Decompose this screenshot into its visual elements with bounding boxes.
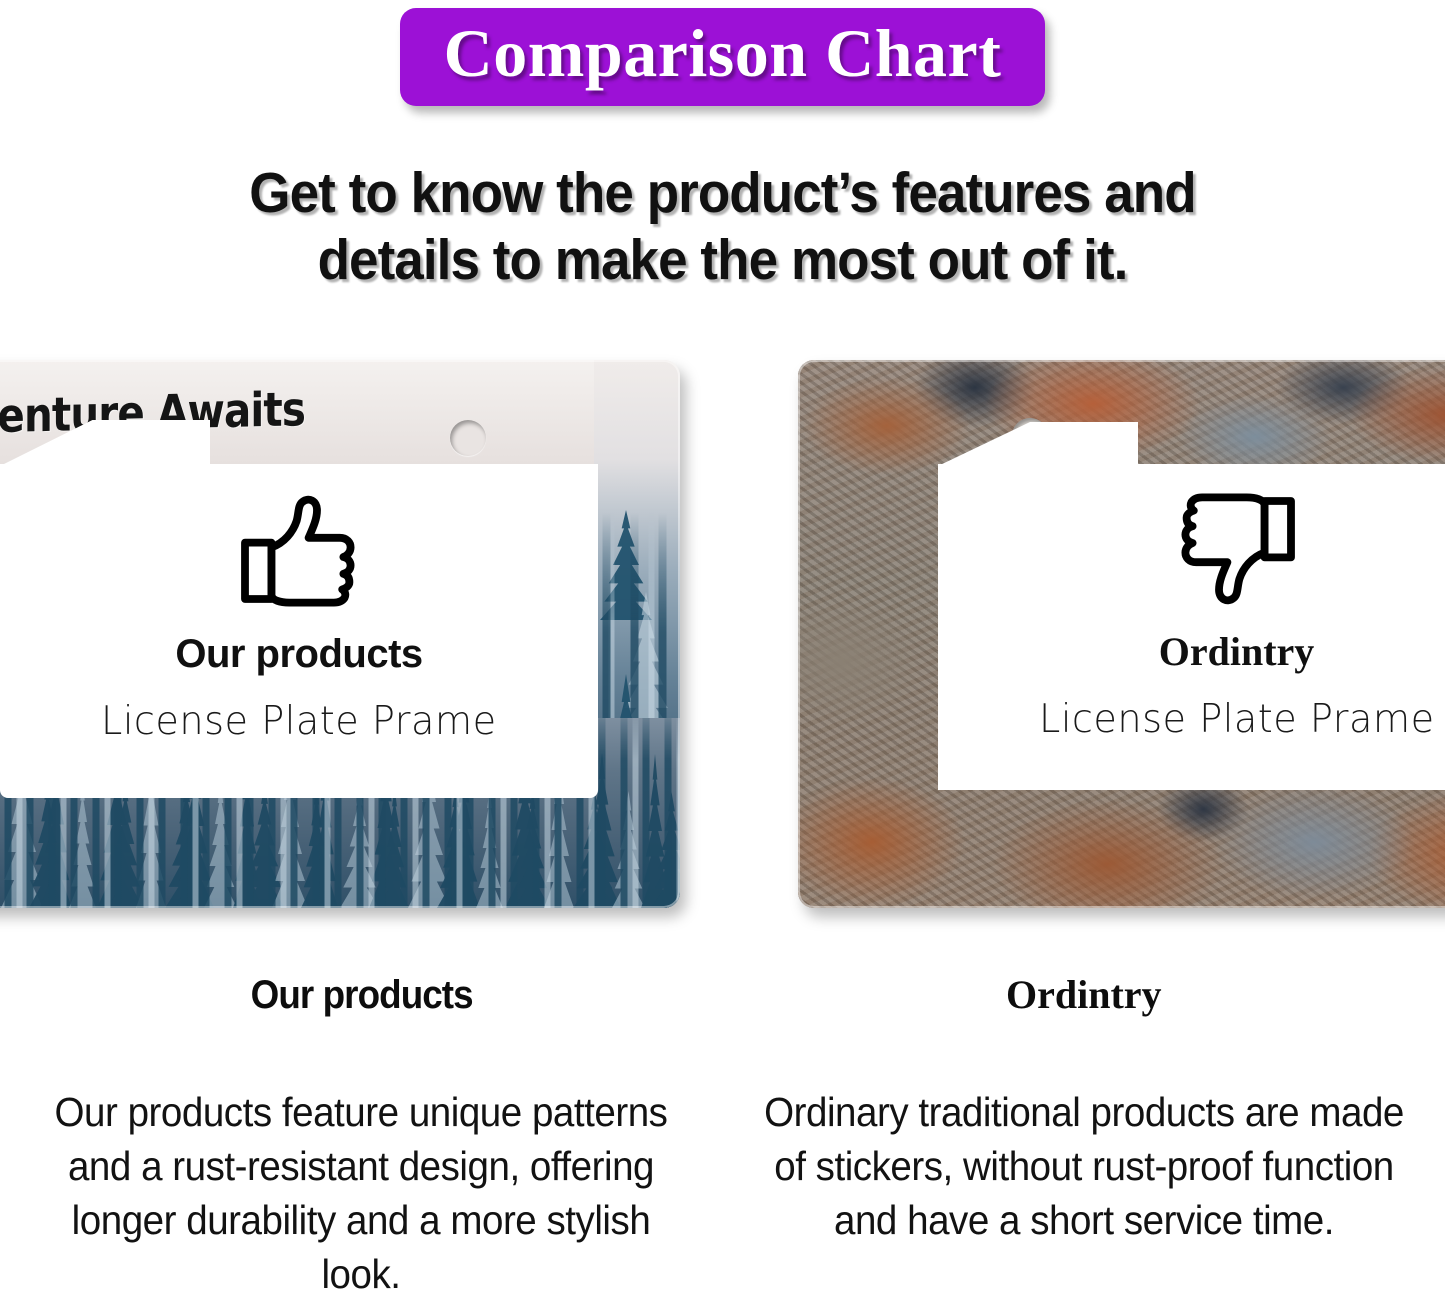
left-description-column: Our products Our products feature unique…	[0, 975, 723, 1315]
plate-window: Our products License Plate Prame	[0, 464, 598, 798]
right-product-label: License Plate Prame	[1039, 700, 1435, 739]
subtitle-line-1: Get to know the product’s features and	[51, 160, 1395, 227]
right-column-title: Ordintry	[1006, 975, 1162, 1015]
right-description-column: Ordintry Ordinary traditional products a…	[723, 975, 1445, 1315]
thumbs-up-icon	[239, 492, 359, 610]
subtitle-line-2: details to make the most out of it.	[51, 227, 1395, 294]
thumbs-down-icon	[1177, 490, 1297, 608]
left-column-description: Our products feature unique patterns and…	[37, 1085, 686, 1301]
left-brand-label: Our products	[175, 634, 422, 674]
plate-window: Ordintry License Plate Prame	[938, 464, 1445, 790]
title-banner: Comparison Chart	[400, 8, 1046, 106]
right-product-frame: Ordintry License Plate Prame	[798, 360, 1445, 908]
subtitle: Get to know the product’s features and d…	[51, 160, 1395, 295]
left-column-title: Our products	[250, 975, 472, 1015]
right-brand-label: Ordintry	[1159, 632, 1315, 672]
right-window-content: Ordintry License Plate Prame	[938, 464, 1445, 790]
description-columns: Our products Our products feature unique…	[0, 975, 1445, 1315]
left-product-label: License Plate Prame	[101, 702, 497, 741]
left-window-content: Our products License Plate Prame	[0, 464, 598, 798]
page-title: Comparison Chart	[444, 14, 1002, 92]
left-product-frame: Adventure Awaits Our products License Pl…	[0, 360, 680, 908]
title-banner-wrapper: Comparison Chart	[0, 8, 1445, 106]
mounting-hole	[450, 420, 486, 456]
right-column-description: Ordinary traditional products are made o…	[759, 1085, 1408, 1247]
product-frames-row: Adventure Awaits Our products License Pl…	[0, 340, 1445, 920]
